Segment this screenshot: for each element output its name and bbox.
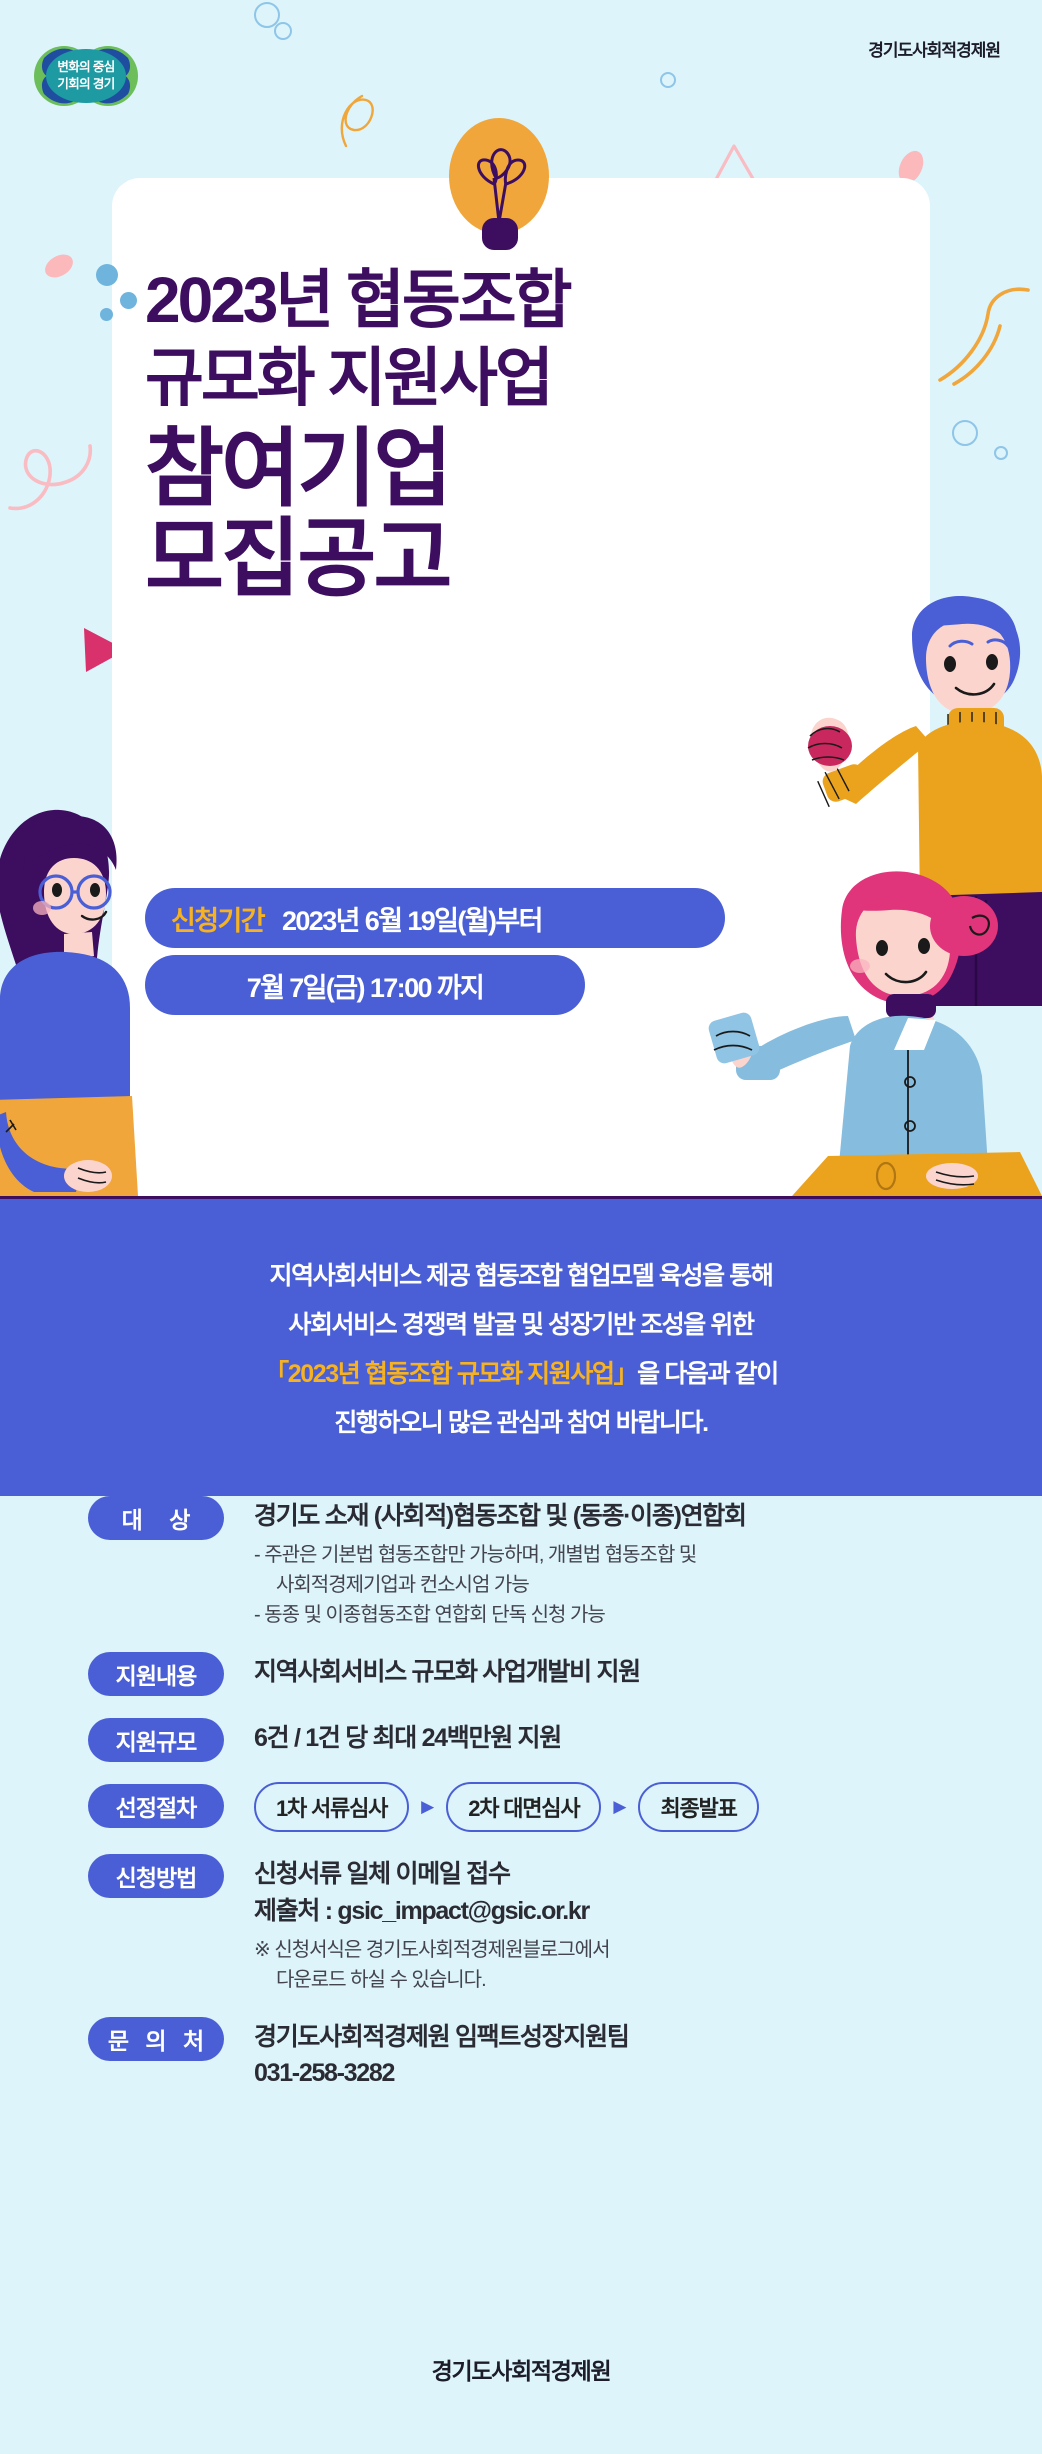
target-sub-1b: 사회적경제기업과 컨소시엄 가능 [254, 1570, 1042, 1600]
intro-line-1: 지역사회서비스 제공 협동조합 협업모델 육성을 통해 [270, 1256, 773, 1292]
ring-decor-3 [660, 72, 676, 88]
process-arrow-icon-2: ▶ [613, 1797, 626, 1817]
target-main: 경기도 소재 (사회적)협동조합 및 (동종·이종)연합회 [254, 1498, 1042, 1534]
intro-line-3-rest: 을 다음과 같이 [637, 1360, 778, 1388]
tag-support-scale: 지원규모 [88, 1718, 224, 1762]
support-scale-main: 6건 / 1건 당 최대 24백만원 지원 [254, 1720, 1042, 1756]
method-email[interactable]: 제출처 : gsic_impact@gsic.or.kr [254, 1893, 1042, 1929]
support-content-main: 지역사회서비스 규모화 사업개발비 지원 [254, 1654, 1042, 1690]
title-line-4: 모집공고 [145, 516, 785, 602]
content-target: 경기도 소재 (사회적)협동조합 및 (동종·이종)연합회 - 주관은 기본법 … [254, 1496, 1042, 1630]
method-note-2: 다운로드 하실 수 있습니다. [254, 1965, 1042, 1995]
period-label: 신청기간 [171, 899, 264, 938]
footer-org-name: 경기도사회적경제원 [0, 2352, 1042, 2386]
detail-row-support-content: 지원내용 지역사회서비스 규모화 사업개발비 지원 [0, 1652, 1042, 1696]
content-process: 1차 서류심사 ▶ 2차 대면심사 ▶ 최종발표 [254, 1784, 1042, 1832]
process-steps: 1차 서류심사 ▶ 2차 대면심사 ▶ 최종발표 [254, 1782, 1042, 1832]
period-line-2: 7월 7일(금) 17:00 까지 [247, 966, 484, 1005]
contact-team: 경기도사회적경제원 임팩트성장지원팀 [254, 2019, 1042, 2055]
tag-support-content: 지원내용 [88, 1652, 224, 1696]
detail-row-process: 선정절차 1차 서류심사 ▶ 2차 대면심사 ▶ 최종발표 [0, 1784, 1042, 1832]
application-period-block: 신청기간 2023년 6월 19일(월)부터 7월 7일(금) 17:00 까지 [145, 888, 725, 1022]
detail-row-target: 대 상 경기도 소재 (사회적)협동조합 및 (동종·이종)연합회 - 주관은 … [0, 1496, 1042, 1630]
intro-highlight: 「2023년 협동조합 규모화 지원사업」 [264, 1360, 637, 1388]
period-row-2: 7월 7일(금) 17:00 까지 [145, 955, 585, 1015]
content-support-content: 지역사회서비스 규모화 사업개발비 지원 [254, 1652, 1042, 1690]
content-support-scale: 6건 / 1건 당 최대 24백만원 지원 [254, 1718, 1042, 1756]
content-method: 신청서류 일체 이메일 접수 제출처 : gsic_impact@gsic.or… [254, 1854, 1042, 1995]
intro-line-4: 진행하오니 많은 관심과 참여 바랍니다. [334, 1403, 707, 1439]
process-step-2[interactable]: 2차 대면심사 [446, 1782, 601, 1832]
orange-squiggle-decor [332, 88, 402, 150]
tag-process: 선정절차 [88, 1784, 224, 1828]
process-step-3[interactable]: 최종발표 [638, 1782, 758, 1832]
header-org-name: 경기도사회적경제원 [868, 36, 1000, 61]
target-sub-2: - 동종 및 이종협동조합 연합회 단독 신청 가능 [254, 1604, 605, 1626]
hero-section: 변화의 중심 기회의 경기 경기도사회적경제원 2023년 협동조합 규모화 지… [0, 0, 1042, 1196]
title-line-1: 2023년 협동조합 [145, 268, 785, 332]
contact-phone[interactable]: 031-258-3282 [254, 2055, 1042, 2091]
process-arrow-icon-1: ▶ [421, 1797, 434, 1817]
title-line-2: 규모화 지원사업 [145, 346, 785, 410]
content-contact: 경기도사회적경제원 임팩트성장지원팀 031-258-3282 [254, 2017, 1042, 2092]
logo-line-2: 기회의 경기 [57, 76, 114, 93]
method-main-1: 신청서류 일체 이메일 접수 [254, 1856, 1042, 1892]
detail-row-support-scale: 지원규모 6건 / 1건 당 최대 24백만원 지원 [0, 1718, 1042, 1762]
tag-method: 신청방법 [88, 1854, 224, 1898]
details-section: 대 상 경기도 소재 (사회적)협동조합 및 (동종·이종)연합회 - 주관은 … [0, 1496, 1042, 2113]
pink-loop-decor [8, 432, 100, 516]
title-line-3: 참여기업 [145, 426, 785, 512]
tag-target: 대 상 [88, 1496, 224, 1540]
poster-root: 변화의 중심 기회의 경기 경기도사회적경제원 2023년 협동조합 규모화 지… [0, 0, 1042, 2454]
period-line-1: 2023년 6월 19일(월)부터 [282, 899, 542, 938]
detail-row-method: 신청방법 신청서류 일체 이메일 접수 제출처 : gsic_impact@gs… [0, 1854, 1042, 1995]
period-row-1: 신청기간 2023년 6월 19일(월)부터 [145, 888, 725, 948]
orange-ribbon-decor [936, 280, 1036, 390]
character-woman-laptop [680, 870, 1042, 1196]
target-sub-1: - 주관은 기본법 협동조합만 가능하며, 개별법 협동조합 및 [254, 1544, 696, 1566]
detail-row-contact: 문 의 처 경기도사회적경제원 임팩트성장지원팀 031-258-3282 [0, 2017, 1042, 2092]
ring-decor-4 [952, 420, 978, 446]
character-woman-glasses [0, 800, 140, 1196]
intro-band: 지역사회서비스 제공 협동조합 협업모델 육성을 통해 사회서비스 경쟁력 발굴… [0, 1196, 1042, 1496]
poster-title: 2023년 협동조합 규모화 지원사업 참여기업 모집공고 [145, 268, 785, 602]
ring-decor-2 [274, 22, 292, 40]
method-note: ※ 신청서식은 경기도사회적경제원블로그에서 다운로드 하실 수 있습니다. [254, 1935, 1042, 1995]
logo-line-1: 변화의 중심 [57, 59, 114, 76]
method-note-1: ※ 신청서식은 경기도사회적경제원블로그에서 [254, 1939, 609, 1961]
intro-line-3: 「2023년 협동조합 규모화 지원사업」을 다음과 같이 [264, 1354, 778, 1390]
tag-contact: 문 의 처 [88, 2017, 224, 2061]
ring-decor-1 [254, 2, 280, 28]
gyeonggi-logo: 변화의 중심 기회의 경기 [34, 30, 138, 122]
ring-decor-5 [994, 446, 1008, 460]
process-step-1[interactable]: 1차 서류심사 [254, 1782, 409, 1832]
pink-oval-decor-2 [41, 250, 77, 282]
target-sub: - 주관은 기본법 협동조합만 가능하며, 개별법 협동조합 및 사회적경제기업… [254, 1540, 1042, 1630]
intro-line-2: 사회서비스 경쟁력 발굴 및 성장기반 조성을 위한 [288, 1305, 753, 1341]
